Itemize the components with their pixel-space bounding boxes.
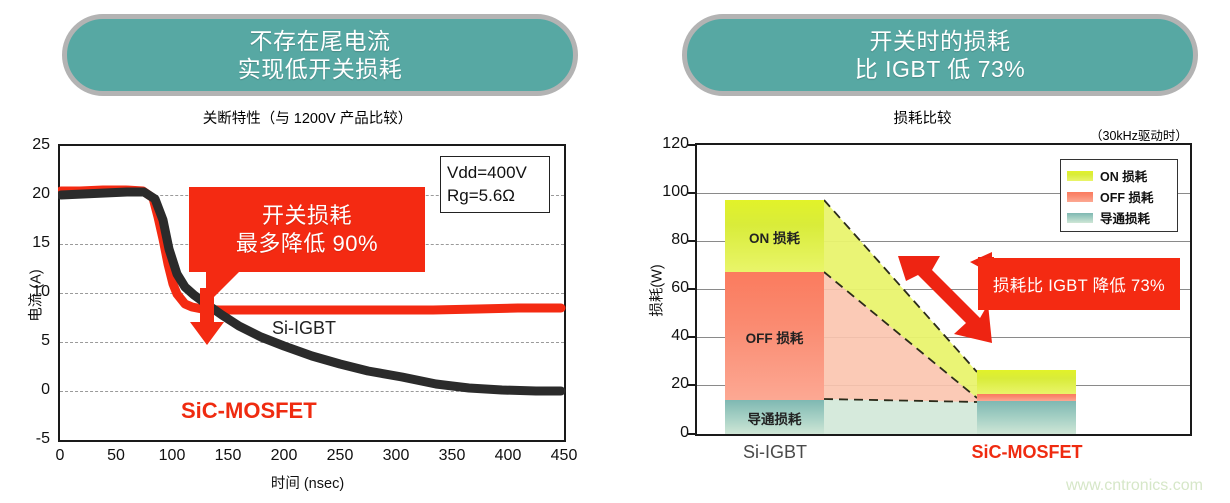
left-ytick-15: 15 [8, 234, 50, 252]
bar-si-igbt-label-cond: 导通损耗 [725, 408, 824, 428]
left-conditions-box: Vdd=400V Rg=5.6Ω [440, 156, 550, 213]
left-xtick-50: 50 [107, 447, 125, 465]
left-xtick-100: 100 [159, 447, 186, 465]
right-y-axis-title: 损耗(W) [646, 243, 667, 339]
legend-label-on: ON 损耗 [1100, 166, 1147, 185]
right-ytick-120: 120 [645, 135, 689, 153]
left-xtick-0: 0 [56, 447, 65, 465]
right-category-label-si-igbt: Si-IGBT [743, 442, 807, 463]
left-ytick-neg5: -5 [8, 430, 50, 448]
legend-label-conduction: 导通损耗 [1100, 208, 1150, 227]
legend-swatch-on [1067, 171, 1093, 181]
legend-label-off: OFF 损耗 [1100, 187, 1153, 206]
bar-sic-mosfet-seg-on [977, 370, 1076, 394]
left-chart-subcaption: 关断特性（与 1200V 产品比较） [0, 107, 615, 128]
right-chart-legend: ON 损耗 OFF 损耗 导通损耗 [1060, 159, 1178, 232]
left-xtick-300: 300 [383, 447, 410, 465]
down-arrow-icon [189, 288, 225, 346]
legend-row-on: ON 损耗 [1067, 165, 1171, 186]
left-xtick-200: 200 [271, 447, 298, 465]
left-ytick-20: 20 [8, 185, 50, 203]
left-callout-box: 开关损耗 最多降低 90% [189, 187, 425, 272]
bar-si-igbt-label-off: OFF 损耗 [725, 327, 824, 347]
right-ytick-0: 0 [645, 424, 689, 442]
right-callout-box: 损耗比 IGBT 降低 73% [978, 258, 1180, 310]
right-headline-line2: 比 IGBT 低 73% [855, 55, 1025, 83]
wedge-conduction [824, 399, 977, 434]
right-chart-note: （30kHz驱动时） [1090, 125, 1188, 144]
bar-si-igbt-label-on: ON 损耗 [725, 227, 824, 247]
left-xtick-350: 350 [439, 447, 466, 465]
left-series-label-si-igbt: Si-IGBT [272, 318, 336, 339]
right-headline-pill: 开关时的损耗 比 IGBT 低 73% [682, 14, 1198, 96]
left-xtick-400: 400 [495, 447, 522, 465]
legend-swatch-off [1067, 192, 1093, 202]
left-conditions-vdd: Vdd=400V [447, 162, 549, 184]
right-ytick-20: 20 [645, 375, 689, 393]
left-xtick-150: 150 [215, 447, 242, 465]
left-xtick-450: 450 [551, 447, 578, 465]
left-xtick-250: 250 [327, 447, 354, 465]
legend-swatch-conduction [1067, 213, 1093, 223]
left-conditions-rg: Rg=5.6Ω [447, 185, 549, 207]
left-y-axis-title: 电流 (A) [25, 251, 46, 341]
left-series-label-sic-mosfet: SiC-MOSFET [181, 398, 317, 424]
right-category-label-sic-mosfet: SiC-MOSFET [972, 442, 1083, 463]
right-ytick-100: 100 [645, 183, 689, 201]
left-headline-line2: 实现低开关损耗 [238, 55, 403, 83]
bar-sic-mosfet-seg-off [977, 394, 1076, 401]
right-headline-line1: 开关时的损耗 [855, 27, 1025, 55]
left-callout-line2: 最多降低 90% [236, 230, 378, 258]
left-x-axis-title: 时间 (nsec) [0, 472, 615, 493]
left-ytick-25: 25 [8, 136, 50, 154]
left-ytick-0: 0 [8, 381, 50, 399]
legend-row-off: OFF 损耗 [1067, 186, 1171, 207]
left-panel: 不存在尾电流 实现低开关损耗 关断特性（与 1200V 产品比较） 25 20 … [0, 0, 615, 503]
left-callout-line1: 开关损耗 [262, 202, 352, 230]
bar-sic-mosfet-seg-cond [977, 401, 1076, 434]
left-headline-pill: 不存在尾电流 实现低开关损耗 [62, 14, 578, 96]
legend-row-conduction: 导通损耗 [1067, 207, 1171, 228]
watermark: www.cntronics.com [1066, 477, 1203, 495]
left-headline-line1: 不存在尾电流 [238, 27, 403, 55]
